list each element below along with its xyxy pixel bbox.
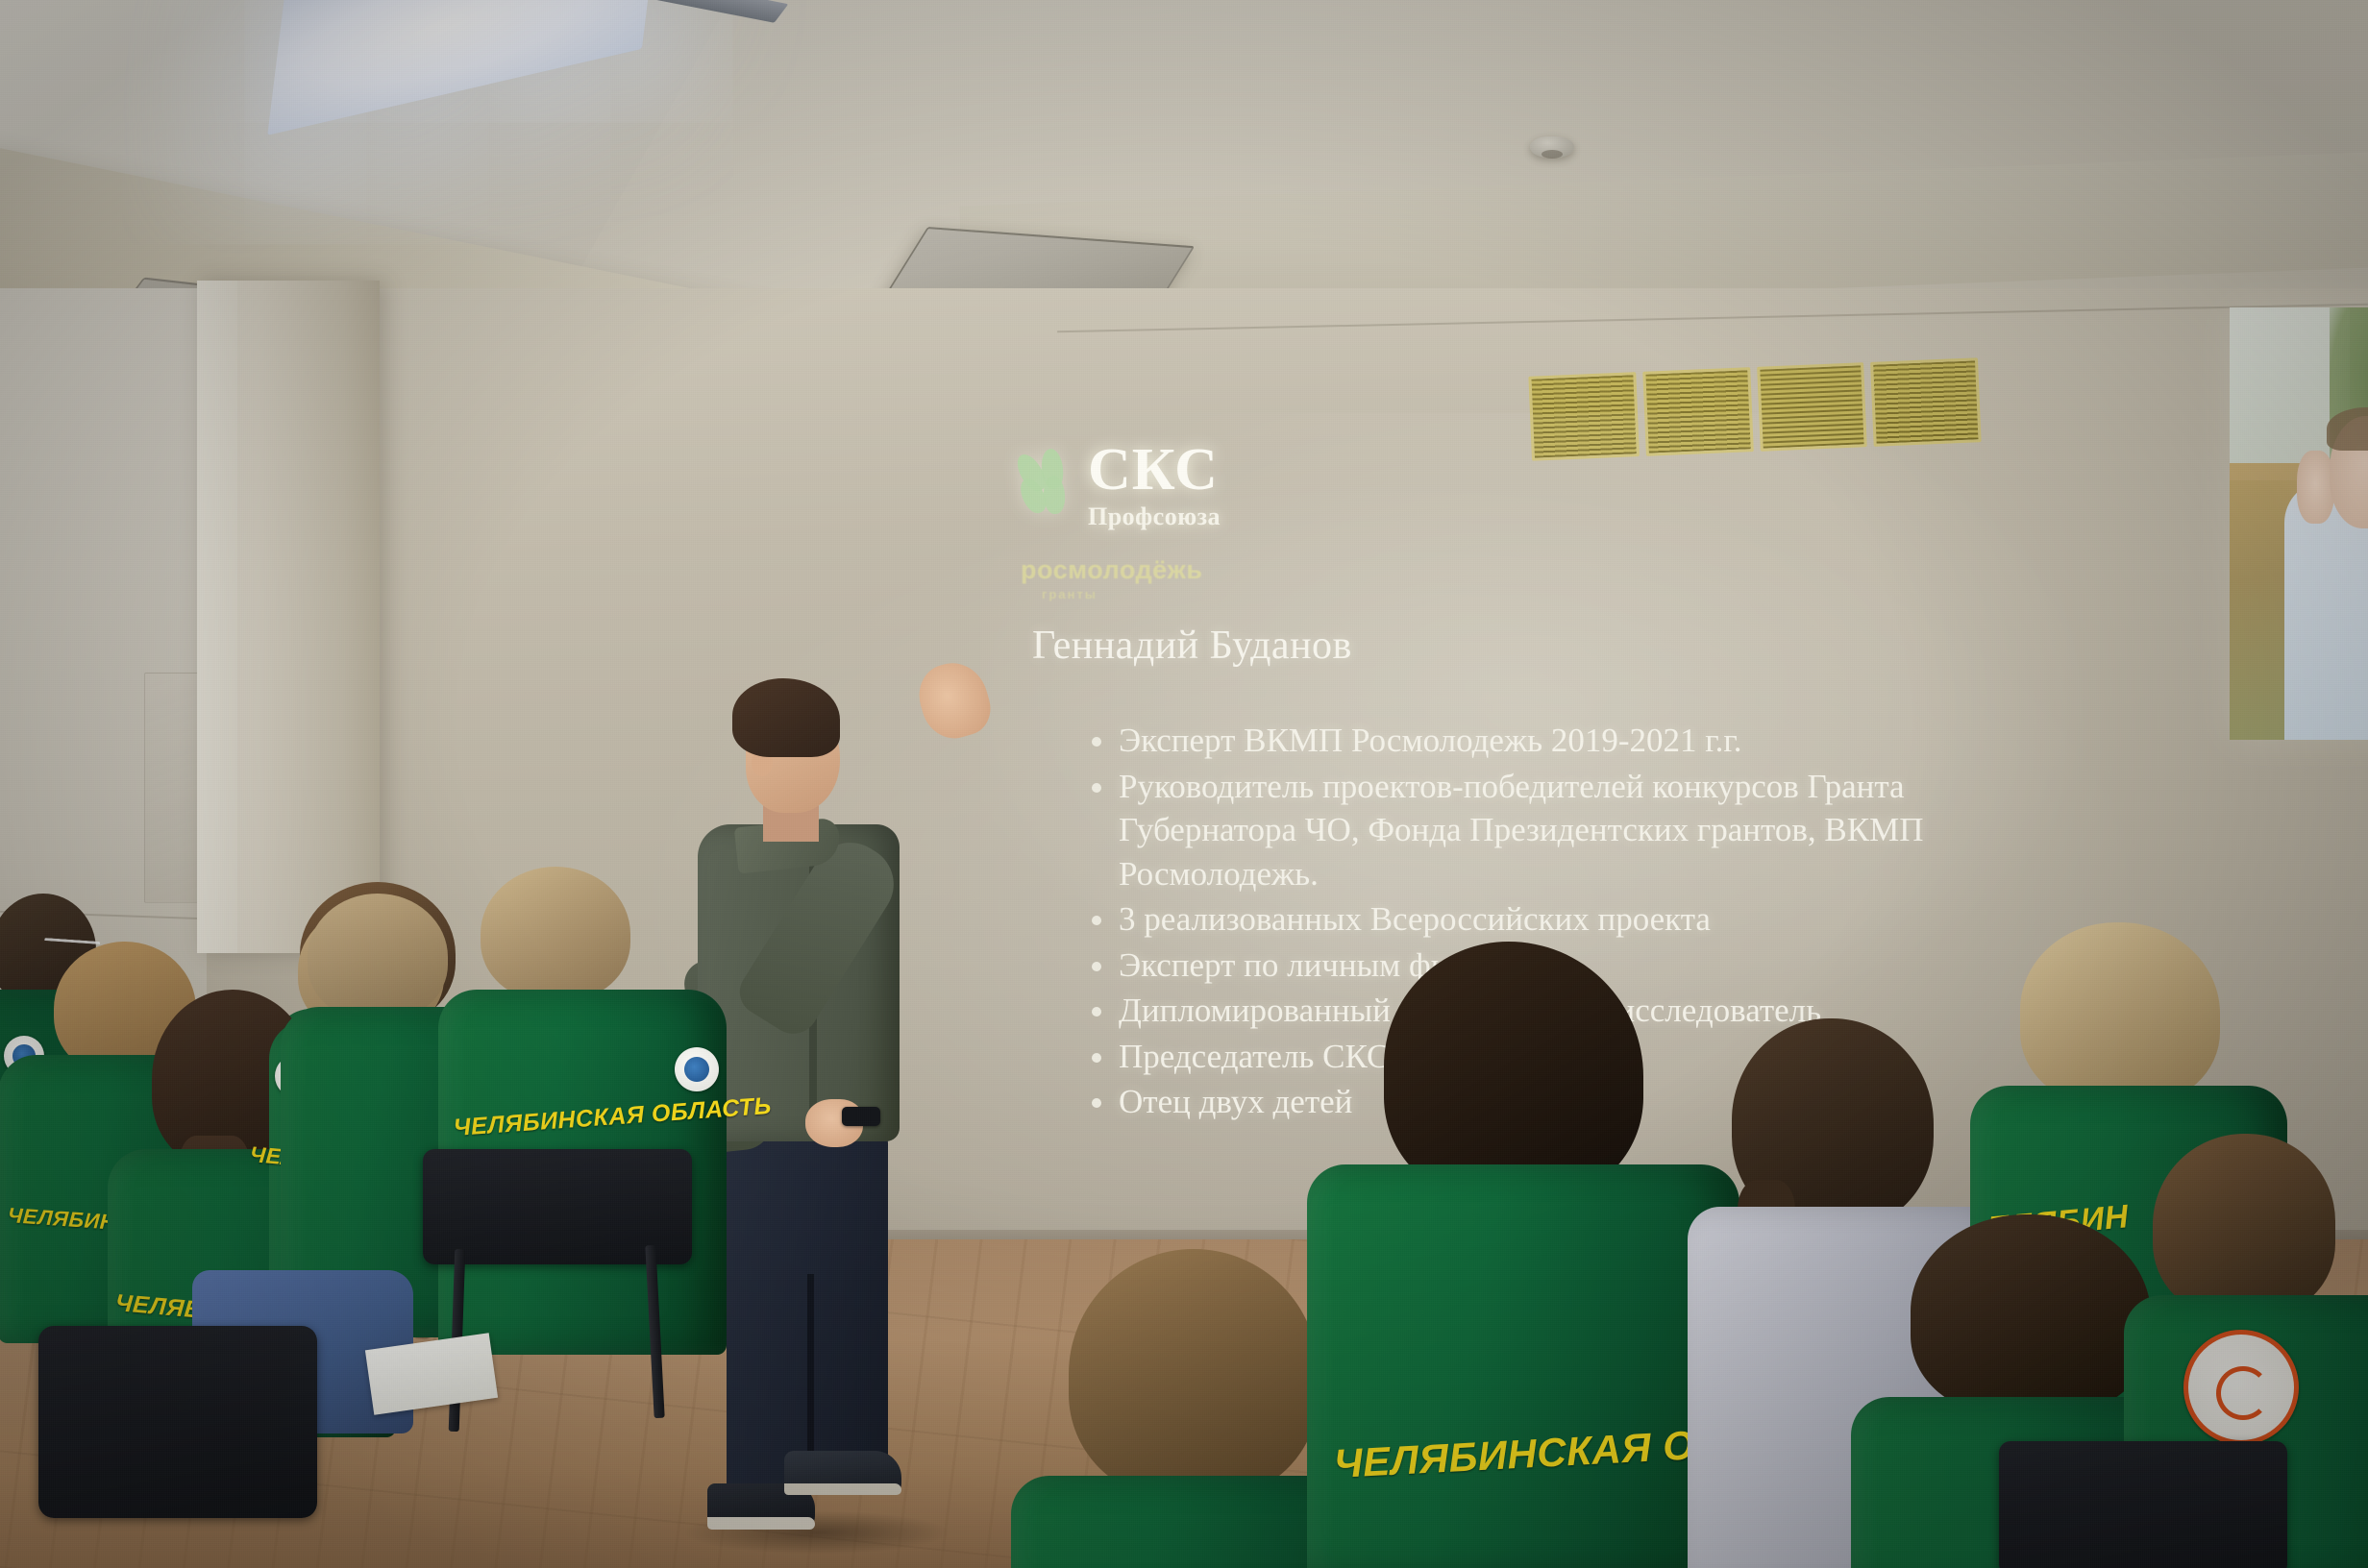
sks-logo: СКС Профсоюза — [1019, 440, 1221, 529]
list-item: ЧЕЛЯБИНСКАЯ ОБЛАСТЬ — [438, 876, 717, 1376]
logo-main-text: СКС — [1088, 440, 1221, 500]
slide-bullet: Руководитель проектов-победителей конкур… — [1119, 765, 2045, 896]
chair — [38, 1326, 317, 1518]
slide-portrait-photo — [2230, 307, 2368, 740]
rosmolodezh-name: росмолодёжь — [1021, 555, 1202, 584]
chair — [1999, 1441, 2287, 1568]
rosmolodezh-logo: росмолодёжь гранты — [1021, 555, 1202, 601]
logo-sub-text: Профсоюза — [1088, 504, 1221, 529]
slide-speaker-name: Геннадий Буданов — [1032, 623, 1352, 669]
slide-bullet: Эксперт ВКМП Росмолодежь 2019-2021 г.г. — [1119, 719, 2045, 763]
wheat-leaf-icon — [1019, 449, 1074, 522]
list-item: ЧЕЛЯБИНСКАЯ ОБЛАСТЬ — [1326, 942, 1730, 1568]
support-column — [197, 281, 380, 953]
shoulder-patch — [2183, 1330, 2299, 1445]
smoke-detector-icon — [1530, 136, 1574, 158]
rosmolodezh-tagline: гранты — [1042, 587, 1202, 601]
speaker-shoe-right — [784, 1451, 901, 1495]
column-highlight — [197, 281, 237, 953]
presentation-clicker[interactable] — [842, 1107, 880, 1126]
slide-bullet: 3 реализованных Всероссийских проекта — [1119, 897, 2045, 942]
lecture-hall-photo: СКС Профсоюза росмолодёжь гранты Геннади… — [0, 0, 2368, 1568]
